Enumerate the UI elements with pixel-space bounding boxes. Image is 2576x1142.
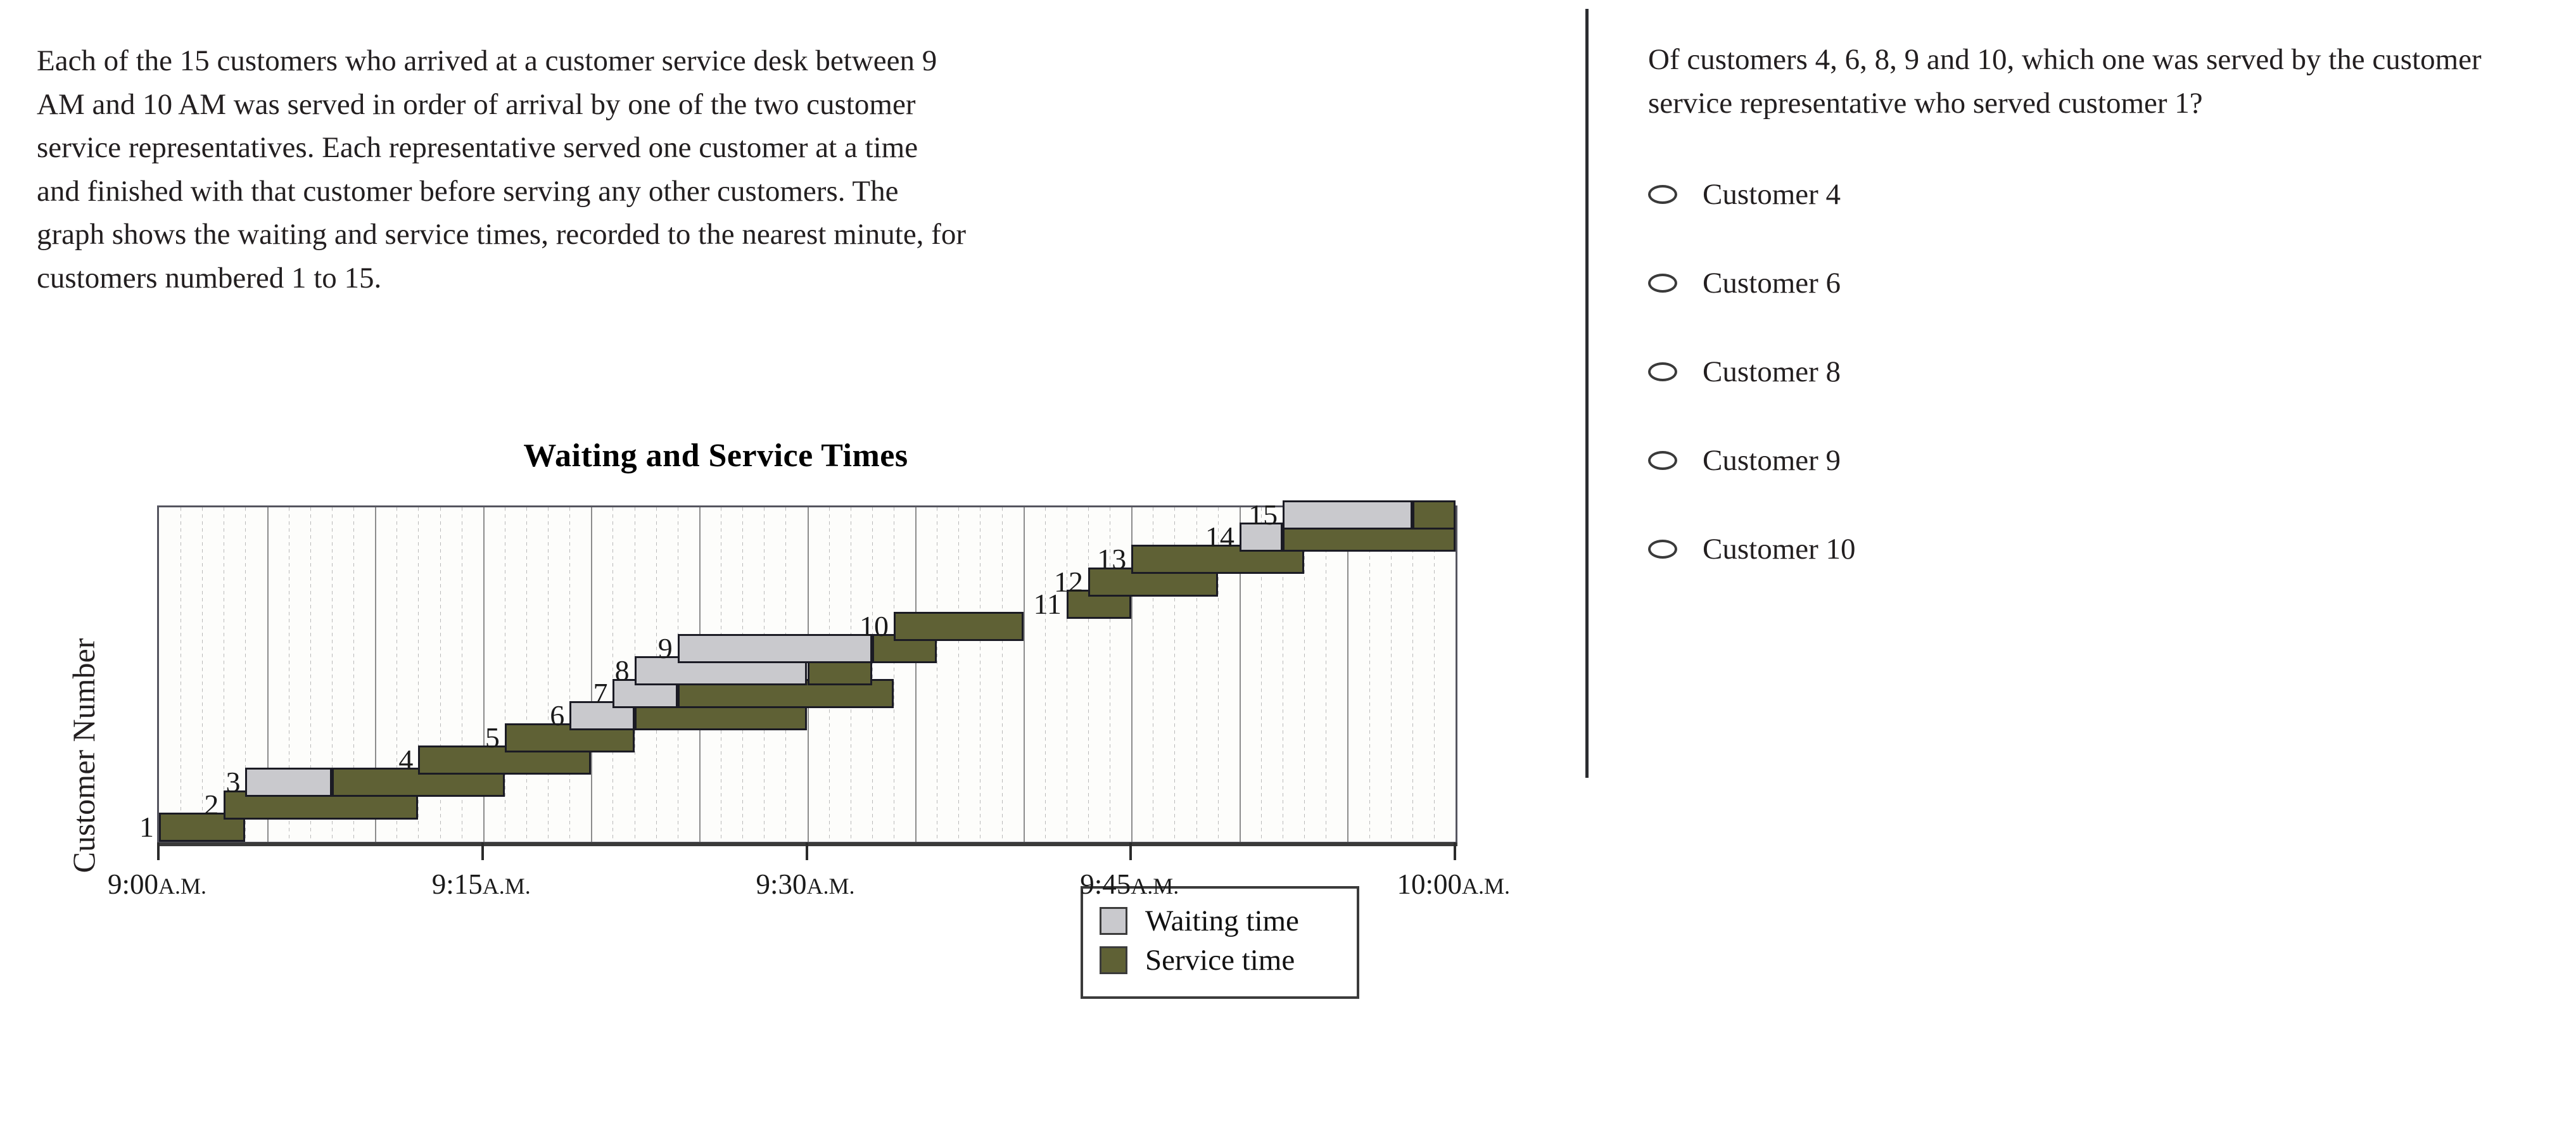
radio-button-8[interactable]: [1648, 362, 1677, 381]
radio-button-10[interactable]: [1648, 540, 1677, 559]
radio-button-9[interactable]: [1648, 451, 1677, 470]
legend-item-service: Service time: [1100, 941, 1357, 980]
x-axis-label: 9:00A.M.: [108, 868, 206, 901]
answer-options: Customer 4Customer 6Customer 8Customer 9…: [1648, 166, 2522, 609]
legend-swatch-service-icon: [1100, 946, 1127, 974]
answer-option-9[interactable]: Customer 9: [1648, 432, 2522, 489]
x-axis-label: 10:00A.M.: [1397, 868, 1511, 901]
x-axis-tick: [481, 842, 484, 860]
panel-divider: [1585, 9, 1589, 778]
answer-option-8[interactable]: Customer 8: [1648, 343, 2522, 400]
answer-option-label: Customer 8: [1703, 357, 1841, 387]
question-panel: Of customers 4, 6, 8, 9 and 10, which on…: [1621, 0, 2572, 1142]
legend-label-service: Service time: [1145, 946, 1295, 975]
bar-row: 15: [159, 500, 1456, 530]
passage-text: Each of the 15 customers who arrived at …: [37, 39, 968, 300]
answer-option-label: Customer 10: [1703, 535, 1856, 564]
bar-label-customer-15: 15: [1222, 500, 1278, 530]
x-axis-tick: [157, 842, 160, 860]
chart-title: Waiting and Service Times: [494, 437, 937, 474]
legend-swatch-waiting-icon: [1100, 907, 1127, 935]
x-axis-label: 9:15A.M.: [432, 868, 531, 901]
legend-item-waiting: Waiting time: [1100, 901, 1357, 941]
bar-segment-waiting: [1283, 500, 1412, 530]
x-axis-label: 9:45A.M.: [1080, 868, 1179, 901]
waiting-service-times-chart: Waiting and Service Times Customer Numbe…: [0, 437, 1545, 1083]
bar-segment-service: [1412, 500, 1456, 530]
chart-legend: Waiting time Service time: [1081, 886, 1359, 999]
answer-option-label: Customer 9: [1703, 446, 1841, 476]
radio-button-4[interactable]: [1648, 185, 1677, 204]
y-axis-title: Customer Number: [65, 566, 102, 946]
answer-option-10[interactable]: Customer 10: [1648, 521, 2522, 578]
x-axis-tick: [1129, 842, 1132, 860]
legend-label-waiting: Waiting time: [1145, 906, 1299, 936]
bar-label-customer-1: 1: [98, 813, 154, 842]
x-axis-tick: [806, 842, 808, 860]
answer-option-6[interactable]: Customer 6: [1648, 255, 2522, 312]
stimulus-panel: Each of the 15 customers who arrived at …: [0, 0, 1583, 1142]
radio-button-6[interactable]: [1648, 274, 1677, 293]
question-stem: Of customers 4, 6, 8, 9 and 10, which on…: [1648, 38, 2509, 125]
x-axis-label: 9:30A.M.: [756, 868, 855, 901]
x-axis-tick: [1454, 842, 1456, 860]
answer-option-4[interactable]: Customer 4: [1648, 166, 2522, 223]
answer-option-label: Customer 4: [1703, 180, 1841, 210]
plot-area: 123456789101112131415 Waiting time Servi…: [157, 505, 1457, 844]
answer-option-label: Customer 6: [1703, 269, 1841, 298]
